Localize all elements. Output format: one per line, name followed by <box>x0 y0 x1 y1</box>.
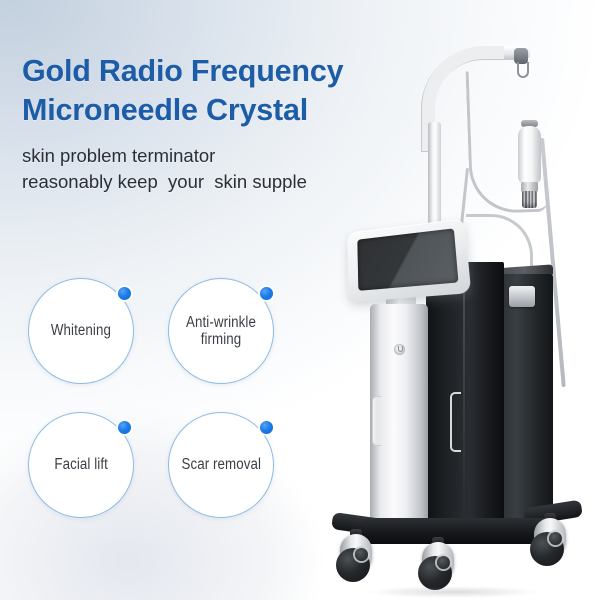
feature-dot-icon <box>118 421 131 434</box>
main-body-seam <box>463 268 465 526</box>
product-image <box>318 18 600 600</box>
caster-wheel <box>336 534 376 586</box>
feature-circle-anti-wrinkle-firming[interactable]: Anti-wrinkle firming <box>168 278 274 384</box>
caster-hub <box>355 548 368 561</box>
feature-dot-icon <box>118 287 131 300</box>
handpiece-body <box>518 126 541 184</box>
touchscreen-monitor <box>347 218 471 302</box>
main-body-handle <box>450 392 461 452</box>
caster-wheel <box>530 518 570 570</box>
feature-circle-whitening[interactable]: Whitening <box>28 278 134 384</box>
feature-label: Whitening <box>51 322 111 340</box>
feature-dot-icon <box>260 287 273 300</box>
main-body <box>426 262 504 530</box>
control-column-handle <box>372 396 381 446</box>
feature-circle-facial-lift[interactable]: Facial lift <box>28 412 134 518</box>
feature-label: Scar removal <box>181 456 261 474</box>
silver-module <box>509 286 535 307</box>
handpiece <box>514 120 544 212</box>
power-button-icon <box>394 344 405 355</box>
feature-circle-scar-removal[interactable]: Scar removal <box>168 412 274 518</box>
caster-hub <box>437 556 450 569</box>
product-shadow <box>338 584 568 600</box>
headline-line-1: Gold Radio Frequency <box>22 54 343 88</box>
handpiece-microneedle-tip <box>522 191 537 208</box>
subtitle-line-1: skin problem terminator <box>22 145 215 166</box>
feature-dot-icon <box>260 421 273 434</box>
rolling-base <box>362 518 558 544</box>
feature-label: Anti-wrinkle firming <box>176 314 265 349</box>
product-banner: Gold Radio Frequency Microneedle Crystal… <box>0 0 600 600</box>
monitor-display <box>357 228 458 291</box>
caster-hub <box>549 532 562 545</box>
feature-label: Facial lift <box>54 456 108 474</box>
main-body-right-panel <box>501 274 553 522</box>
